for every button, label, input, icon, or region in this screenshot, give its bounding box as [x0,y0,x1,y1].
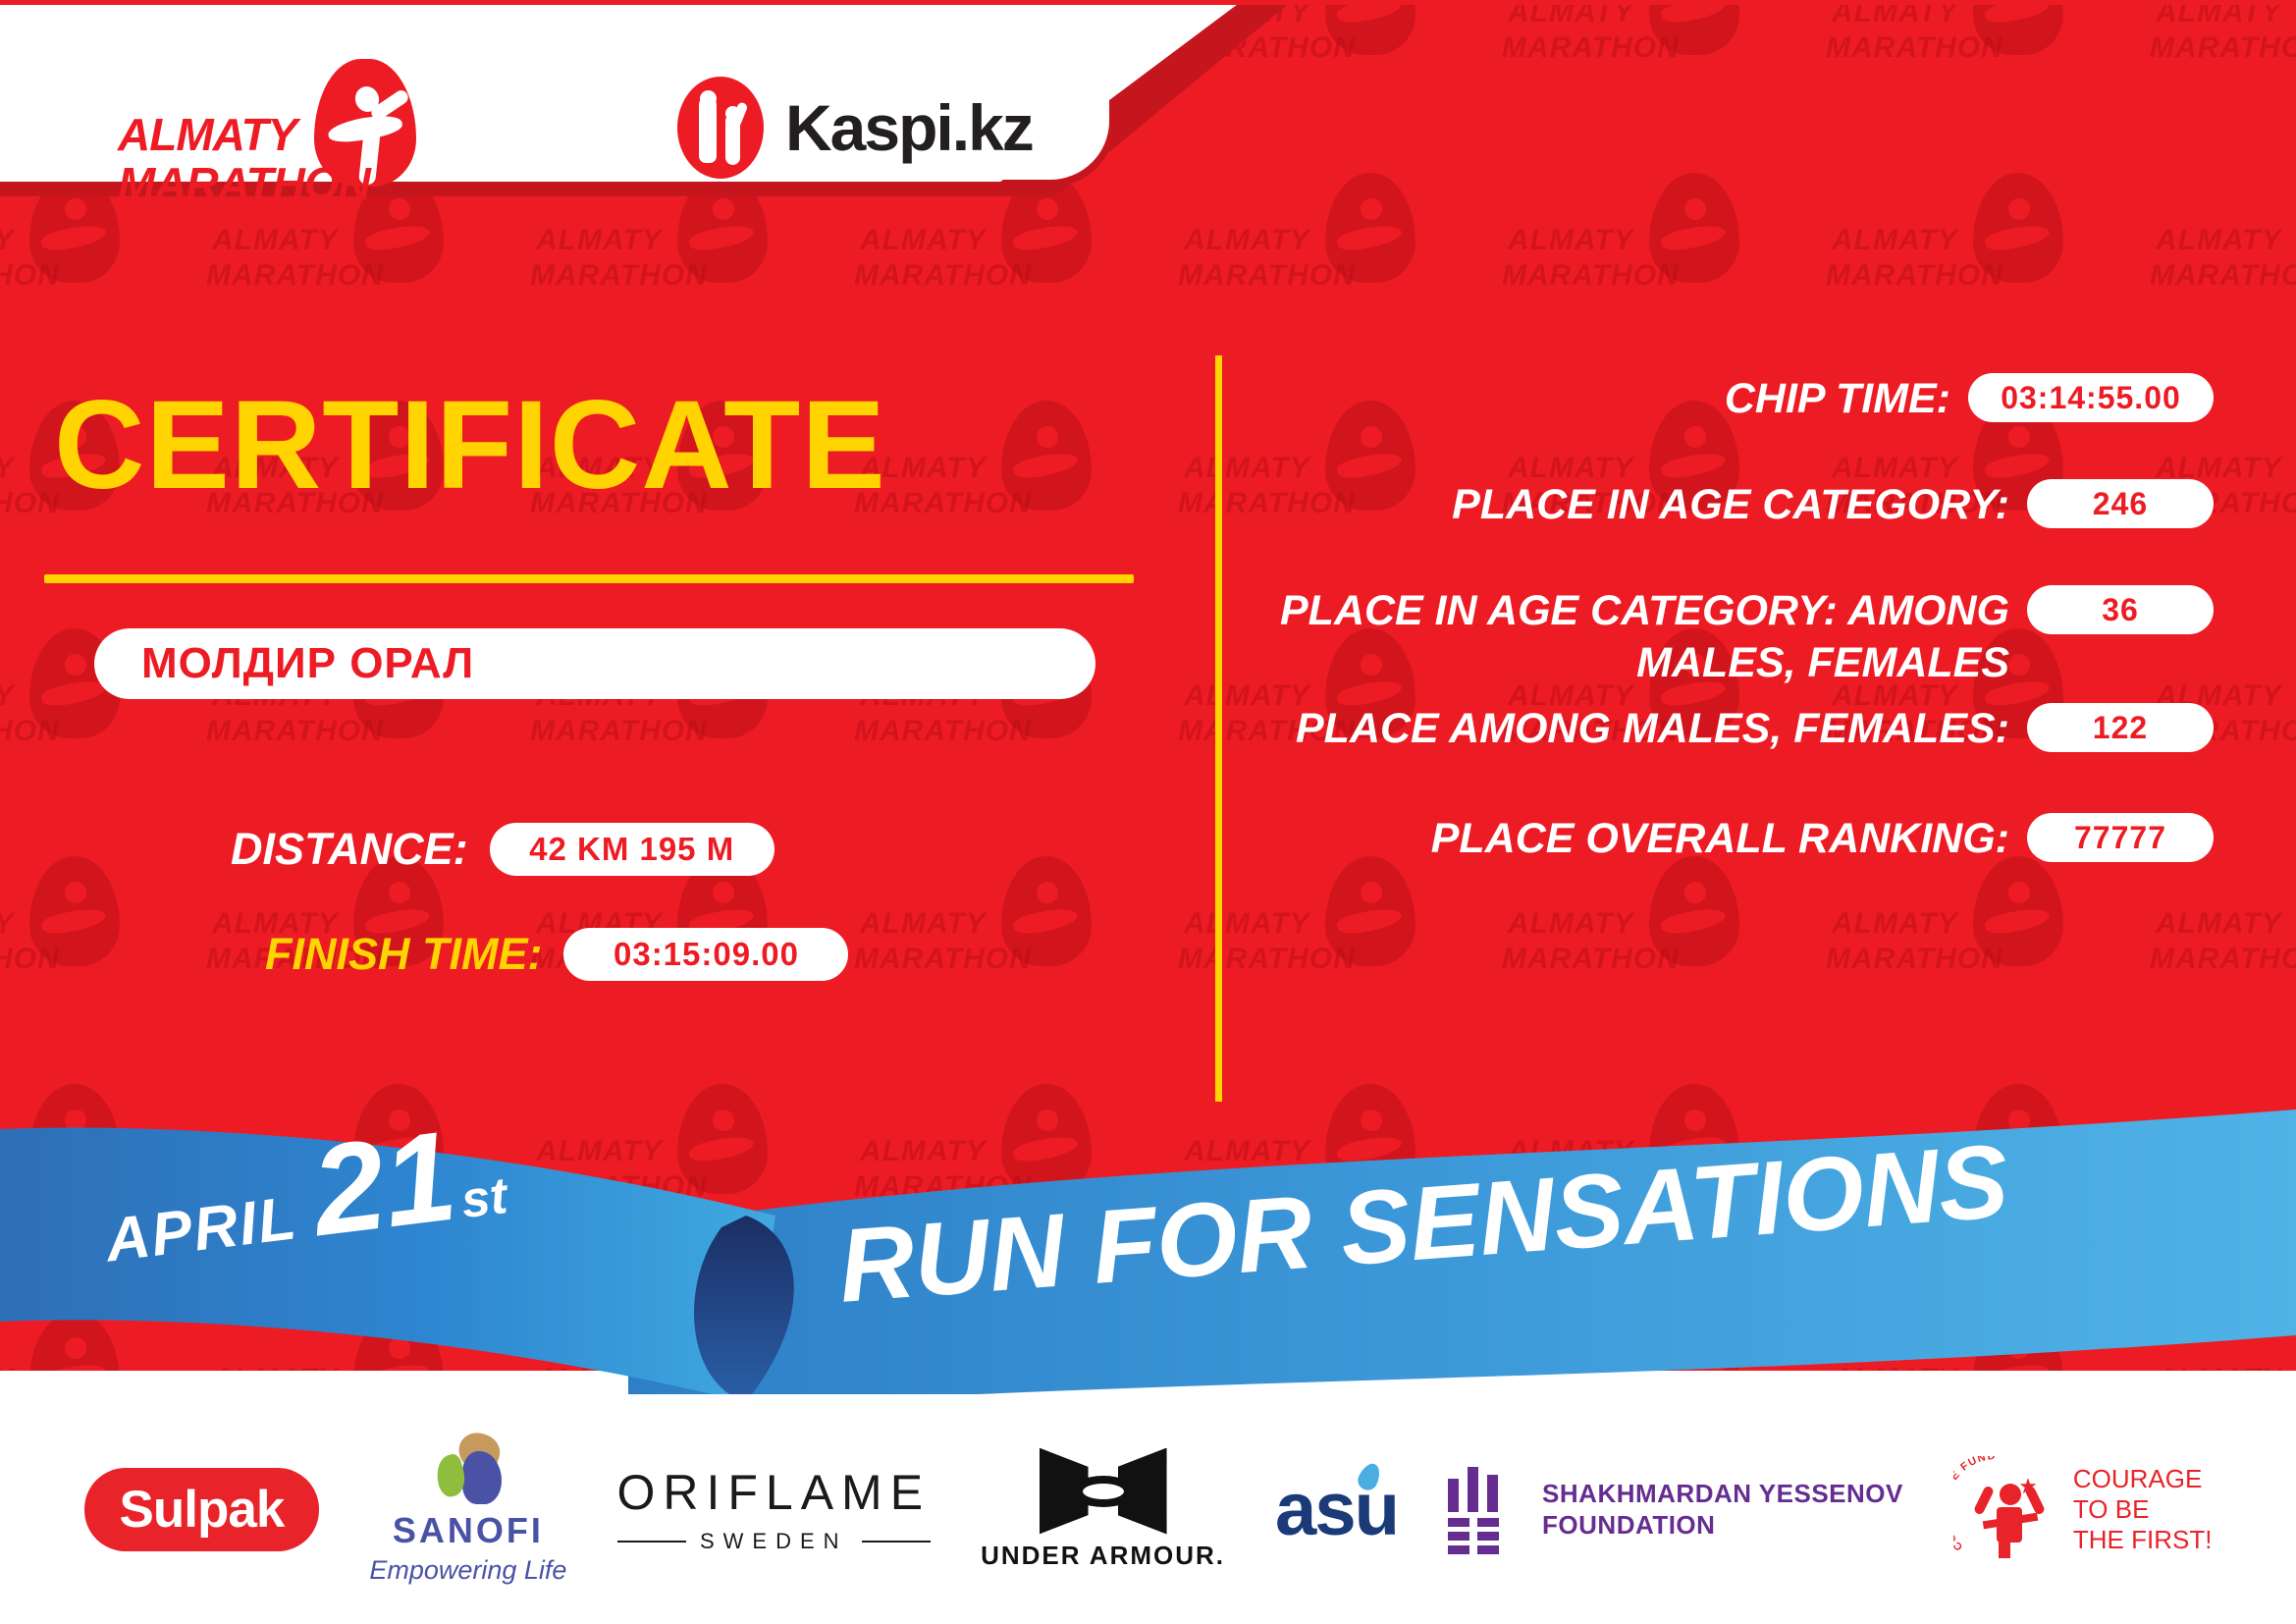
yessenov-line-1: SHAKHMARDAN YESSENOV [1542,1478,1903,1509]
oriflame-rule-right [862,1541,931,1543]
watermark-line-2: MARATHON [2150,943,2296,976]
event-day-suffix: st [458,1166,510,1230]
courage-fund-wordmark: COURAGE TO BE THE FIRST! [2073,1464,2213,1555]
watermark-line-2: MARATHON [1826,943,2003,976]
kaspi-people-icon [677,77,764,179]
asu-wordmark: asu [1275,1467,1398,1552]
watermark-line-1: ALMATY [2156,224,2282,257]
watermark-line-2: MARATHON [206,715,384,748]
watermark-line-2: MARATHON [0,715,60,748]
result-label: PLACE AMONG MALES, FEMALES: [1271,703,2027,755]
yessenov-wordmark: SHAKHMARDAN YESSENOV FOUNDATION [1542,1478,1903,1541]
watermark-line-1: ALMATY [1832,1363,1958,1371]
event-day: 21 [305,1111,461,1256]
watermark-runner-icon [677,1312,768,1371]
result-row: CHIP TIME:03:14:55.00 [1271,373,2214,425]
watermark-line-1: ALMATY [1508,1363,1634,1371]
watermark-line-2: MARATHON [854,943,1032,976]
watermark-tile: ALMATYMARATHON [1502,0,1826,169]
watermark-line-1: ALMATY [1508,224,1634,257]
watermark-tile: ALMATYMARATHON [1826,169,2150,397]
participant-name-field: МОЛДИР ОРАЛ [94,628,1095,699]
watermark-runner-icon [353,1312,444,1371]
watermark-line-1: ALMATY [0,224,15,257]
watermark-line-1: ALMATY [536,224,663,257]
result-row: PLACE IN AGE CATEGORY: AMONG MALES, FEMA… [1271,585,2214,689]
watermark-tile: ALMATYMARATHON [1826,0,2150,169]
watermark-line-1: ALMATY [1184,224,1310,257]
courage-fund-icon: CORPORATE FUND ★ [1953,1456,2059,1562]
watermark-line-1: ALMATY [0,1135,15,1168]
watermark-tile: ALMATYMARATHON [1502,1308,1826,1371]
watermark-line-1: ALMATY [1184,1135,1310,1168]
watermark-line-2: MARATHON [1502,259,1680,293]
watermark-line-2: MARATHON [854,715,1032,748]
watermark-runner-icon [1649,1312,1739,1371]
watermark-line-1: ALMATY [536,1363,663,1371]
watermark-runner-icon [1325,1312,1415,1371]
result-value: 122 [2027,703,2214,752]
vertical-divider [1215,355,1222,1102]
watermark-tile: ALMATYMARATHON [206,1308,530,1371]
watermark-line-1: ALMATY [0,452,15,485]
watermark-tile: ALMATYMARATHON [2150,1308,2296,1371]
kaspi-logo: Kaspi.kz [677,77,1033,179]
watermark-tile: ALMATYMARATHON [0,852,206,1080]
watermark-line-1: ALMATY [1184,1363,1310,1371]
watermark-line-2: MARATHON [530,259,708,293]
sponsor-sanofi: SANOFI Empowering Life [369,1434,566,1586]
watermark-line-2: MARATHON [0,259,60,293]
watermark-line-1: ALMATY [536,1135,663,1168]
sponsor-under-armour: UNDER ARMOUR. [981,1448,1225,1571]
watermark-line-2: MARATHON [2150,31,2296,65]
sponsor-courage-fund: CORPORATE FUND ★ COURAGE TO BE THE FIRST… [1953,1456,2213,1562]
watermark-line-1: ALMATY [1184,907,1310,941]
watermark-line-1: ALMATY [0,1363,15,1371]
sponsor-sulpak: Sulpak [84,1468,320,1551]
watermark-tile: ALMATYMARATHON [1502,852,1826,1080]
watermark-runner-icon [1001,1312,1092,1371]
watermark-tile: ALMATYMARATHON [2150,0,2296,169]
watermark-tile: ALMATYMARATHON [854,397,1178,624]
result-label: PLACE IN AGE CATEGORY: AMONG MALES, FEMA… [1271,585,2027,689]
watermark-line-2: MARATHON [1826,259,2003,293]
watermark-tile: ALMATYMARATHON [854,852,1178,1080]
watermark-line-2: MARATHON [854,259,1032,293]
almaty-marathon-wordmark: ALMATY MARATHON [118,110,370,208]
watermark-line-1: ALMATY [0,679,15,713]
sanofi-icon [429,1434,507,1504]
result-row: PLACE AMONG MALES, FEMALES:122 [1271,703,2214,755]
watermark-tile: ALMATYMARATHON [854,169,1178,397]
result-value: 36 [2027,585,2214,634]
result-row: PLACE OVERALL RANKING:77777 [1271,813,2214,865]
finish-time-row: FINISH TIME: 03:15:09.00 [265,928,848,981]
watermark-runner-icon [29,1312,120,1371]
result-label: PLACE IN AGE CATEGORY: [1271,479,2027,531]
top-red-line [0,0,2296,5]
watermark-line-2: MARATHON [1502,31,1680,65]
finish-time-label: FINISH TIME: [265,929,542,980]
watermark-line-2: MARATHON [1178,259,1356,293]
sponsor-bar: Sulpak SANOFI Empowering Life ORIFLAME S… [0,1394,2296,1624]
watermark-tile: ALMATYMARATHON [530,1080,854,1308]
almaty-line: ALMATY [118,110,370,159]
result-label: CHIP TIME: [1271,373,1968,425]
watermark-line-1: ALMATY [2156,1135,2282,1168]
distance-row: DISTANCE: 42 KM 195 M [231,823,774,876]
watermark-line-2: MARATHON [206,259,384,293]
watermark-tile: ALMATYMARATHON [2150,169,2296,397]
watermark-line-2: MARATHON [1502,943,1680,976]
watermark-line-2: MARATHON [530,715,708,748]
watermark-line-1: ALMATY [860,907,987,941]
watermark-tile: ALMATYMARATHON [1826,852,2150,1080]
watermark-line-1: ALMATY [2156,907,2282,941]
watermark-tile: ALMATYMARATHON [530,1308,854,1371]
certificate-canvas: ALMATYMARATHONALMATYMARATHONALMATYMARATH… [0,0,2296,1624]
oriflame-rule-left [617,1541,686,1543]
watermark-runner-icon [1973,1312,2063,1371]
sanofi-wordmark: SANOFI [369,1510,566,1551]
page-title: CERTIFICATE [54,383,886,509]
watermark-tile: ALMATYMARATHON [0,1308,206,1371]
watermark-line-1: ALMATY [860,1363,987,1371]
watermark-line-2: MARATHON [2150,259,2296,293]
sanofi-tagline: Empowering Life [369,1555,566,1586]
watermark-tile: ALMATYMARATHON [1178,852,1502,1080]
distance-label: DISTANCE: [231,824,468,875]
result-value: 77777 [2027,813,2214,862]
courage-line-2: TO BE [2073,1494,2213,1525]
watermark-tile: ALMATYMARATHON [2150,1080,2296,1308]
watermark-tile: ALMATYMARATHON [1178,1308,1502,1371]
yessenov-icon [1448,1467,1521,1551]
watermark-line-1: ALMATY [1832,224,1958,257]
oriflame-wordmark: ORIFLAME [616,1464,931,1521]
sponsor-yessenov-foundation: SHAKHMARDAN YESSENOV FOUNDATION [1448,1467,1903,1551]
result-label: PLACE OVERALL RANKING: [1271,813,2027,865]
under-armour-icon [1040,1448,1167,1535]
participant-name: МОЛДИР ОРАЛ [141,639,474,688]
watermark-tile: ALMATYMARATHON [1502,169,1826,397]
watermark-line-1: ALMATY [1832,907,1958,941]
watermark-line-2: MARATHON [530,1170,708,1204]
watermark-tile: ALMATYMARATHON [530,169,854,397]
result-value: 246 [2027,479,2214,528]
result-value: 03:14:55.00 [1968,373,2214,422]
finish-time-value: 03:15:09.00 [563,928,848,981]
watermark-line-1: ALMATY [860,224,987,257]
oriflame-subtitle: SWEDEN [700,1529,848,1554]
watermark-line-1: ALMATY [0,907,15,941]
courage-line-1: COURAGE [2073,1464,2213,1494]
marathon-line: MARATHON [118,159,370,208]
watermark-tile: ALMATYMARATHON [1826,1308,2150,1371]
yessenov-line-2: FOUNDATION [1542,1509,1903,1541]
watermark-line-1: ALMATY [2156,1363,2282,1371]
watermark-line-2: MARATHON [1826,31,2003,65]
watermark-line-1: ALMATY [212,224,339,257]
sponsor-asu: asu [1275,1467,1398,1552]
watermark-line-2: MARATHON [2150,1170,2296,1204]
title-divider [44,574,1134,583]
watermark-line-1: ALMATY [860,1135,987,1168]
sulpak-logo: Sulpak [84,1468,320,1551]
watermark-line-1: ALMATY [212,1363,339,1371]
watermark-tile: ALMATYMARATHON [2150,852,2296,1080]
watermark-line-2: MARATHON [1178,943,1356,976]
watermark-tile: ALMATYMARATHON [1178,169,1502,397]
result-row: PLACE IN AGE CATEGORY:246 [1271,479,2214,531]
almaty-marathon-logo: ALMATY MARATHON [118,67,442,185]
kaspi-wordmark: Kaspi.kz [785,90,1033,165]
sponsor-oriflame: ORIFLAME SWEDEN [616,1464,931,1554]
watermark-line-1: ALMATY [1508,907,1634,941]
under-armour-wordmark: UNDER ARMOUR. [981,1541,1225,1571]
watermark-line-2: MARATHON [0,943,60,976]
courage-line-3: THE FIRST! [2073,1525,2213,1555]
distance-value: 42 KM 195 M [490,823,774,876]
watermark-line-2: MARATHON [0,487,60,520]
watermark-line-2: MARATHON [0,1170,60,1204]
